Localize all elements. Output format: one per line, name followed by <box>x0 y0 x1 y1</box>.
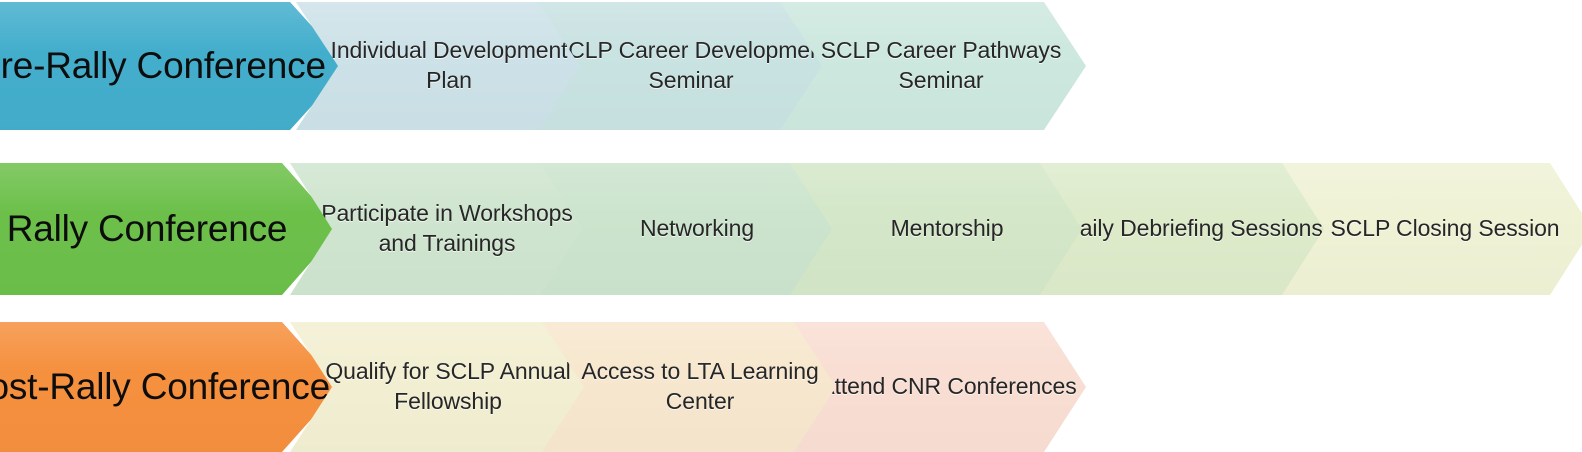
step-label-sclp-career-pathways-seminar: SCLP Career Pathways Seminar <box>788 36 1094 96</box>
process-flow-diagram: Pre-Rally Conference Individual Developm… <box>0 0 1582 452</box>
step-chevron-individual-development-plan[interactable]: Individual Development Plan <box>296 2 586 130</box>
row-rally: Rally Conference Participate in Workshop… <box>0 163 1582 295</box>
stage-chevron-post-rally[interactable]: Post-Rally Conference <box>0 322 340 452</box>
step-label-qualify-sclp-annual-fellowship: Qualify for SCLP Annual Fellowship <box>298 357 598 417</box>
step-chevron-sclp-career-development-seminar[interactable]: SCLP Career Development Seminar <box>538 2 828 130</box>
step-chevron-mentorship[interactable]: Mentorship <box>790 163 1088 295</box>
step-chevron-sclp-career-pathways-seminar[interactable]: SCLP Career Pathways Seminar <box>780 2 1086 130</box>
row-post-rally: Post-Rally Conference Qualify for SCLP A… <box>0 322 1582 452</box>
step-label-individual-development-plan: Individual Development Plan <box>304 36 594 96</box>
step-label-participate-workshops-trainings: Participate in Workshops and Trainings <box>298 199 596 259</box>
step-chevron-participate-workshops-trainings[interactable]: Participate in Workshops and Trainings <box>290 163 588 295</box>
stage-chevron-pre-rally[interactable]: Pre-Rally Conference <box>0 2 348 130</box>
step-chevron-attend-cnr-conferences[interactable]: Attend CNR Conferences <box>794 322 1086 452</box>
stage-chevron-rally[interactable]: Rally Conference <box>0 163 340 295</box>
row-pre-rally: Pre-Rally Conference Individual Developm… <box>0 2 1582 130</box>
step-chevron-qualify-sclp-annual-fellowship[interactable]: Qualify for SCLP Annual Fellowship <box>290 322 590 452</box>
step-chevron-daily-debriefing-sessions[interactable]: Daily Debriefing Sessions <box>1040 163 1330 295</box>
step-label-attend-cnr-conferences: Attend CNR Conferences <box>813 372 1082 402</box>
step-label-daily-debriefing-sessions: Daily Debriefing Sessions <box>1057 214 1329 244</box>
step-label-sclp-career-development-seminar: SCLP Career Development Seminar <box>546 36 836 96</box>
stage-label-rally: Rally Conference <box>1 208 294 250</box>
step-label-access-lta-learning-center: Access to LTA Learning Center <box>550 357 850 417</box>
step-label-mentorship: Mentorship <box>885 214 1010 244</box>
stage-label-pre-rally: Pre-Rally Conference <box>0 45 332 87</box>
step-label-networking: Networking <box>634 214 760 244</box>
step-chevron-access-lta-learning-center[interactable]: Access to LTA Learning Center <box>542 322 842 452</box>
stage-label-post-rally: Post-Rally Conference <box>0 366 336 408</box>
step-chevron-sclp-closing-session[interactable]: SCLP Closing Session <box>1282 163 1582 295</box>
step-chevron-networking[interactable]: Networking <box>540 163 838 295</box>
step-label-sclp-closing-session: SCLP Closing Session <box>1325 214 1566 244</box>
